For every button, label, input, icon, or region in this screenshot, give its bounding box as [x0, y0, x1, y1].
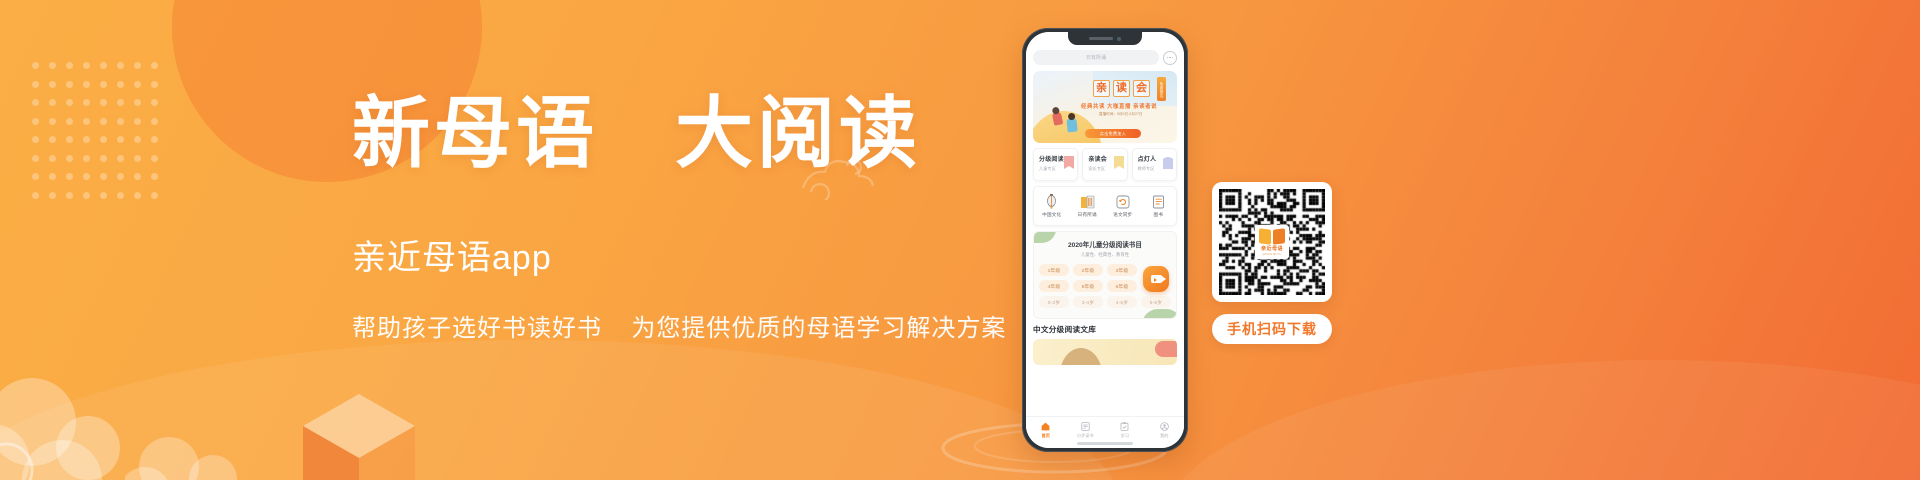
qr-download-block: 亲近母语 QINJIN MUYU 手机扫码下载: [1212, 182, 1332, 344]
decor-leaf-bottom-right: [1142, 309, 1177, 319]
decor-cube: [300, 392, 418, 480]
user-icon: [1160, 422, 1169, 431]
headline-part-2: 大阅读: [675, 90, 921, 177]
promo-banner: 新母语 大阅读 亲近母语app 帮助孩子选好书读好书 为您提供优质的母语学习解决…: [0, 0, 1920, 480]
tab-label: 小步读书: [1077, 433, 1094, 439]
headline-part-1: 新母语: [352, 90, 598, 177]
quick-icon-label: 图书: [1153, 212, 1163, 218]
library-section-title: 中文分级阅读文库: [1033, 324, 1177, 335]
promo-ribbon: 免费报名: [1157, 77, 1166, 101]
quick-icon-books[interactable]: 图书: [1141, 195, 1177, 218]
video-play-button[interactable]: [1143, 266, 1169, 292]
phone-screen: 日有所诵 亲 读 会 免费报名 经典共读 大咖直播 亲读者说 直播时间：: [1026, 32, 1184, 448]
tab-reading[interactable]: 小步读书: [1066, 422, 1106, 439]
camera-icon: [1117, 37, 1121, 41]
home-icon: [1041, 422, 1050, 431]
grade-pill[interactable]: 1年级: [1039, 264, 1069, 276]
search-input[interactable]: 日有所诵: [1033, 50, 1159, 65]
tab-label: 我的: [1160, 433, 1168, 439]
qr-code[interactable]: 亲近母语 QINJIN MUYU: [1212, 182, 1332, 302]
grade-pill-rows: 1年级 2年级 3年级 4年级 5年级 6年级 0-3岁: [1039, 264, 1171, 308]
lantern-icon: [1045, 194, 1058, 209]
decor-cloud-bottom-left-2: [125, 423, 275, 480]
decor-dot-grid: [32, 62, 168, 210]
quick-icon-label: 中国文化: [1042, 212, 1061, 218]
brand-name: 亲近母语: [1261, 245, 1283, 252]
grade-pill[interactable]: 5年级: [1073, 280, 1103, 292]
quick-icon-daily-recitation[interactable]: 日有所诵: [1070, 194, 1106, 218]
speaker-icon: [1089, 37, 1113, 40]
promo-child-2: [1066, 118, 1077, 133]
bottom-tab-bar: 首页 小步读书: [1026, 416, 1184, 442]
banner-copy: 新母语 大阅读 亲近母语app 帮助孩子选好书读好书 为您提供优质的母语学习解决…: [352, 95, 1012, 343]
decor-hill-left: [0, 340, 1120, 480]
category-card-lamp-lighter[interactable]: 点灯人 教师专区: [1132, 148, 1177, 181]
quick-icon-row: 中国文化 日有所诵: [1033, 186, 1177, 226]
app-search-row: 日有所诵: [1033, 50, 1177, 65]
age-pill[interactable]: 3-4岁: [1073, 296, 1103, 308]
brand-logo: 亲近母语 QINJIN MUYU: [1255, 225, 1289, 259]
banner-tagline: 帮助孩子选好书读好书 为您提供优质的母语学习解决方案: [352, 308, 1012, 343]
category-card-reading-club[interactable]: 亲读会 家长专区: [1082, 148, 1127, 181]
phone-mockup: 日有所诵 亲 读 会 免费报名 经典共读 大咖直播 亲读者说 直播时间：: [1022, 28, 1188, 452]
sync-icon: [1116, 195, 1130, 209]
message-icon[interactable]: [1163, 51, 1177, 65]
category-cards: 分级阅读 儿童专区 亲读会 家长专区 点灯人: [1033, 148, 1177, 181]
grade-pill[interactable]: 4年级: [1039, 280, 1069, 292]
age-pill[interactable]: 0-3岁: [1039, 296, 1069, 308]
bookmark-red-icon: [1063, 155, 1075, 172]
age-pill[interactable]: 5-6岁: [1141, 296, 1171, 308]
promo-card[interactable]: 亲 读 会 免费报名 经典共读 大咖直播 亲读者说 直播时间：9月6日-9月27…: [1033, 71, 1177, 143]
promo-date: 直播时间：9月6日-9月27日: [1099, 112, 1143, 117]
book-open-icon: [1080, 194, 1095, 209]
promo-join-button[interactable]: 点击免费加入: [1085, 129, 1141, 138]
graded-booklist-section: 2020年儿童分级阅读书目 儿童性、经典性、教育性 1年级 2年级 3年级 4年…: [1033, 231, 1177, 319]
promo-title-char: 亲: [1093, 80, 1110, 97]
decor-hill-right: [1160, 360, 1920, 480]
home-indicator: [1077, 442, 1133, 445]
quick-icon-label: 语文同步: [1113, 212, 1132, 218]
library-card-tab: [1155, 341, 1177, 357]
book-icon: [1081, 422, 1090, 431]
promo-title: 亲 读 会: [1093, 80, 1150, 97]
promo-title-char: 会: [1133, 80, 1150, 97]
library-card[interactable]: [1033, 339, 1177, 365]
grade-pill[interactable]: 2年级: [1073, 264, 1103, 276]
quick-icon-chinese-culture[interactable]: 中国文化: [1034, 194, 1070, 218]
booklist-subtitle: 儿童性、经典性、教育性: [1039, 252, 1171, 258]
bookmark-yellow-icon: [1113, 155, 1125, 172]
page-title: 新母语 大阅读: [352, 95, 1012, 173]
age-row: 0-3岁 3-4岁 4-5岁 5-6岁: [1039, 296, 1171, 308]
book-logo-icon: [1259, 229, 1285, 244]
tagline-part-2: 为您提供优质的母语学习解决方案: [631, 315, 1006, 342]
app-name: 亲近母语app: [352, 230, 1012, 279]
quick-icon-chinese-sync[interactable]: 语文同步: [1105, 195, 1141, 218]
quick-icon-label: 日有所诵: [1078, 212, 1097, 218]
books-icon: [1152, 195, 1165, 209]
phone-notch: [1068, 32, 1142, 45]
clipboard-check-icon: [1120, 422, 1129, 431]
tab-study[interactable]: 学习: [1105, 422, 1145, 439]
app-screen: 日有所诵 亲 读 会 免费报名 经典共读 大咖直播 亲读者说 直播时间：: [1026, 32, 1184, 448]
tab-label: 学习: [1121, 433, 1129, 439]
age-pill[interactable]: 4-5岁: [1107, 296, 1137, 308]
library-card-arc: [1059, 348, 1103, 365]
grade-pill[interactable]: 3年级: [1107, 264, 1137, 276]
decor-cloud-bottom-left: [0, 370, 200, 480]
bookmark-purple-icon: [1162, 155, 1174, 172]
promo-subtitle: 经典共读 大咖直播 亲读者说: [1081, 102, 1157, 110]
promo-title-char: 读: [1113, 80, 1130, 97]
brand-name-en: QINJIN MUYU: [1262, 253, 1281, 256]
tab-profile[interactable]: 我的: [1145, 422, 1185, 439]
category-card-graded-reading[interactable]: 分级阅读 儿童专区: [1033, 148, 1078, 181]
play-video-icon: [1151, 275, 1162, 283]
booklist-title: 2020年儿童分级阅读书目: [1039, 239, 1171, 249]
tagline-part-1: 帮助孩子选好书读好书: [352, 315, 602, 342]
tab-home[interactable]: 首页: [1026, 422, 1066, 439]
download-button[interactable]: 手机扫码下载: [1212, 314, 1332, 344]
grade-pill[interactable]: 6年级: [1107, 280, 1137, 292]
tab-label: 首页: [1042, 433, 1050, 439]
